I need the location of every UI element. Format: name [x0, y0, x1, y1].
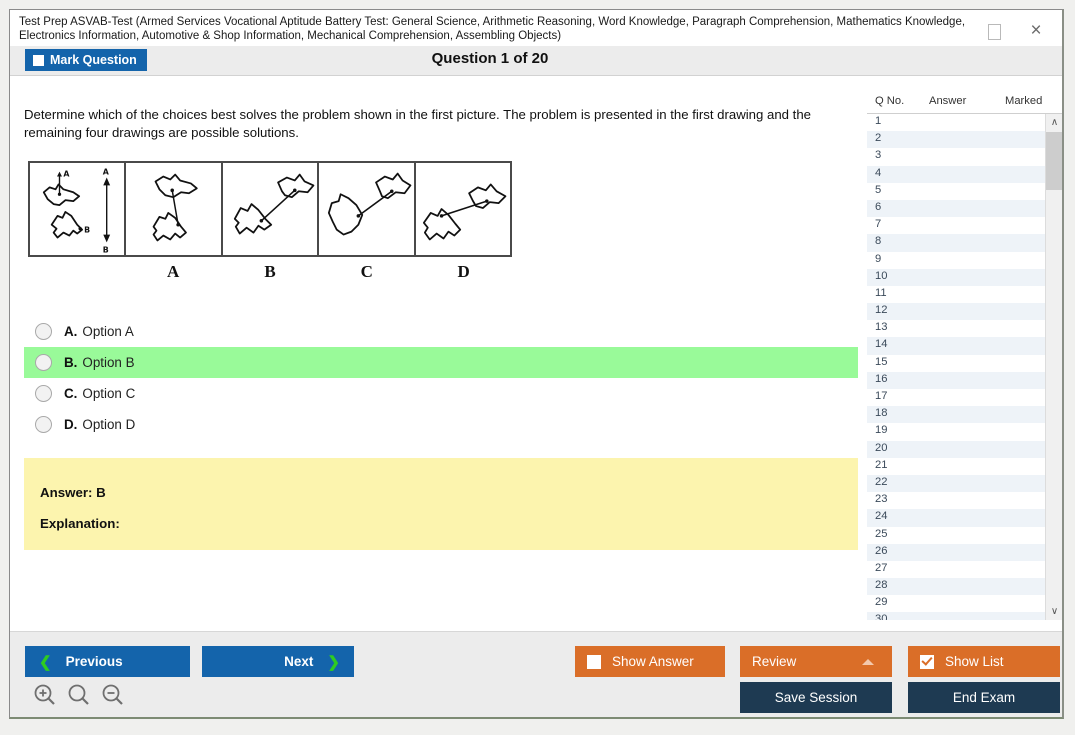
option-text-b: Option B [82, 355, 134, 370]
question-list-rows[interactable]: 1234567891011121314151617181920212223242… [867, 114, 1045, 620]
question-list-row-number: 11 [875, 287, 887, 299]
figure-label-a: A [125, 259, 222, 285]
zoom-controls [32, 682, 126, 708]
answer-options: A. Option A B. Option B C. Option C D. O… [24, 316, 858, 440]
figure-label-d: D [415, 259, 512, 285]
question-list-row[interactable]: 29 [867, 595, 1045, 612]
mark-question-checkbox-icon[interactable] [33, 55, 44, 66]
figure-choice-labels: A B C D [28, 259, 512, 285]
figure-panel-choice-b [223, 163, 319, 255]
question-list-row[interactable]: 8 [867, 234, 1045, 251]
scrollbar-thumb[interactable] [1046, 132, 1063, 190]
question-list-row[interactable]: 25 [867, 527, 1045, 544]
question-list-row[interactable]: 18 [867, 406, 1045, 423]
question-list-row[interactable]: 10 [867, 269, 1045, 286]
svg-text:B: B [103, 245, 109, 254]
figure-panel-choice-a [126, 163, 222, 255]
zoom-in-icon[interactable] [32, 682, 58, 708]
question-list-row[interactable]: 9 [867, 252, 1045, 269]
question-list-row-number: 28 [875, 579, 887, 591]
close-icon[interactable]: × [1024, 19, 1048, 43]
question-list-row-number: 20 [875, 442, 887, 454]
figure-label-0 [28, 259, 125, 285]
review-label: Review [752, 654, 796, 669]
question-list-row[interactable]: 20 [867, 441, 1045, 458]
option-text-d: Option D [82, 417, 135, 432]
option-row-d[interactable]: D. Option D [24, 409, 858, 440]
question-list-row-number: 25 [875, 528, 887, 540]
column-header-marked: Marked [1005, 95, 1042, 107]
radio-icon-a[interactable] [35, 323, 52, 340]
question-prompt: Determine which of the choices best solv… [24, 106, 852, 142]
svg-text:A: A [63, 170, 70, 179]
question-list-row[interactable]: 3 [867, 148, 1045, 165]
question-list-row-number: 24 [875, 510, 887, 522]
option-letter-c: C. [64, 386, 77, 401]
svg-text:B: B [84, 226, 90, 235]
question-list-row-number: 7 [875, 218, 881, 230]
question-list-row[interactable]: 15 [867, 355, 1045, 372]
question-list-row[interactable]: 24 [867, 509, 1045, 526]
question-list-row-number: 3 [875, 149, 881, 161]
show-answer-label: Show Answer [612, 654, 694, 669]
question-list-row[interactable]: 1 [867, 114, 1045, 131]
question-list-scrollbar[interactable]: ∧ ∨ [1045, 114, 1063, 620]
answer-explanation-box: Answer: B Explanation: [24, 458, 858, 550]
option-row-b[interactable]: B. Option B [24, 347, 858, 378]
question-list-row-number: 21 [875, 459, 887, 471]
question-list-row[interactable]: 16 [867, 372, 1045, 389]
show-list-checkbox-icon[interactable] [920, 655, 934, 669]
title-bar: Test Prep ASVAB-Test (Armed Services Voc… [10, 10, 1062, 46]
question-list-row[interactable]: 7 [867, 217, 1045, 234]
question-list-row[interactable]: 2 [867, 131, 1045, 148]
radio-icon-d[interactable] [35, 416, 52, 433]
question-list-row-number: 30 [875, 613, 887, 620]
question-list-row-number: 23 [875, 493, 887, 505]
question-list-row[interactable]: 13 [867, 320, 1045, 337]
question-list-row-number: 27 [875, 562, 887, 574]
question-list-header: Q No. Answer Marked [867, 90, 1063, 114]
chevron-left-icon: ❮ [39, 653, 52, 671]
question-list-row-number: 4 [875, 167, 881, 179]
question-list-row-number: 17 [875, 390, 887, 402]
question-list-row[interactable]: 23 [867, 492, 1045, 509]
exam-window: Test Prep ASVAB-Test (Armed Services Voc… [9, 9, 1064, 719]
figure-panel-problem: A B A B [30, 163, 126, 255]
show-list-label: Show List [945, 654, 1004, 669]
save-session-button[interactable]: Save Session [740, 682, 892, 713]
figure-label-b: B [222, 259, 319, 285]
question-list-row-number: 19 [875, 424, 887, 436]
option-row-a[interactable]: A. Option A [24, 316, 858, 347]
question-list-row[interactable]: 19 [867, 423, 1045, 440]
question-figure: A B A B [28, 161, 512, 257]
question-list-row[interactable]: 6 [867, 200, 1045, 217]
question-panel: Determine which of the choices best solv… [10, 76, 858, 628]
svg-text:A: A [103, 168, 110, 177]
question-list-row[interactable]: 14 [867, 337, 1045, 354]
question-list-row-number: 18 [875, 407, 887, 419]
question-list-row-number: 2 [875, 132, 881, 144]
figure-panel-choice-d [416, 163, 510, 255]
question-list-row[interactable]: 12 [867, 303, 1045, 320]
show-answer-button[interactable]: Show Answer [575, 646, 725, 677]
column-header-answer: Answer [929, 95, 966, 107]
explanation-text: Explanation: [40, 516, 120, 531]
mark-question-button[interactable]: Mark Question [25, 49, 147, 71]
figure-label-c: C [318, 259, 415, 285]
question-list-row-number: 6 [875, 201, 881, 213]
question-list-row[interactable]: 26 [867, 544, 1045, 561]
question-list-row[interactable]: 4 [867, 166, 1045, 183]
scroll-down-icon[interactable]: ∨ [1046, 603, 1063, 620]
option-text-c: Option C [82, 386, 135, 401]
zoom-out-icon[interactable] [100, 682, 126, 708]
question-list-row-number: 14 [875, 338, 887, 350]
question-list-row[interactable]: 5 [867, 183, 1045, 200]
show-answer-checkbox-icon[interactable] [587, 655, 601, 669]
question-list-row-number: 10 [875, 270, 887, 282]
question-list-row-number: 13 [875, 321, 887, 333]
next-label: Next [284, 654, 313, 669]
question-list-row[interactable]: 11 [867, 286, 1045, 303]
question-list-row-number: 8 [875, 235, 881, 247]
question-list-row[interactable]: 21 [867, 458, 1045, 475]
question-list-row-number: 15 [875, 356, 887, 368]
previous-label: Previous [66, 654, 123, 669]
question-list-row[interactable]: 27 [867, 561, 1045, 578]
question-counter: Question 1 of 20 [340, 50, 640, 67]
scroll-up-icon[interactable]: ∧ [1046, 114, 1063, 131]
show-list-button[interactable]: Show List [908, 646, 1060, 677]
option-row-c[interactable]: C. Option C [24, 378, 858, 409]
question-list-row-number: 9 [875, 253, 881, 265]
window-title: Test Prep ASVAB-Test (Armed Services Voc… [19, 15, 994, 43]
question-list-row[interactable]: 22 [867, 475, 1045, 492]
question-list-row-number: 26 [875, 545, 887, 557]
option-letter-a: A. [64, 324, 77, 339]
question-list-row[interactable]: 17 [867, 389, 1045, 406]
end-exam-button[interactable]: End Exam [908, 682, 1060, 713]
question-list-row-number: 5 [875, 184, 881, 196]
next-button[interactable]: Next ❯ [202, 646, 354, 677]
mark-question-label: Mark Question [50, 49, 137, 71]
option-letter-d: D. [64, 417, 77, 432]
zoom-reset-icon[interactable] [66, 682, 92, 708]
question-list-row-number: 1 [875, 115, 881, 127]
column-header-qno: Q No. [875, 95, 904, 107]
review-dropdown[interactable]: Review [740, 646, 892, 677]
question-list-row-number: 22 [875, 476, 887, 488]
text-cursor-artifact [988, 24, 1001, 40]
answer-text: Answer: B [40, 485, 106, 500]
previous-button[interactable]: ❮ Previous [25, 646, 190, 677]
figure-panel-choice-c [319, 163, 415, 255]
save-session-label: Save Session [775, 690, 858, 705]
end-exam-label: End Exam [953, 690, 1015, 705]
question-list-panel: Q No. Answer Marked 12345678910111213141… [867, 90, 1063, 635]
option-text-a: Option A [82, 324, 133, 339]
chevron-right-icon: ❯ [327, 653, 340, 671]
radio-icon-b[interactable] [35, 354, 52, 371]
question-list-row-number: 29 [875, 596, 887, 608]
question-list-row[interactable]: 30 [867, 612, 1045, 620]
question-list-row-number: 12 [875, 304, 887, 316]
question-list-row[interactable]: 28 [867, 578, 1045, 595]
question-header-bar: Mark Question Question 1 of 20 [10, 46, 1062, 76]
option-letter-b: B. [64, 355, 77, 370]
chevron-up-icon[interactable] [862, 659, 874, 665]
bottom-toolbar: ❮ Previous Next ❯ Show Answer Review Sho… [10, 631, 1062, 717]
question-list-row-number: 16 [875, 373, 887, 385]
radio-icon-c[interactable] [35, 385, 52, 402]
